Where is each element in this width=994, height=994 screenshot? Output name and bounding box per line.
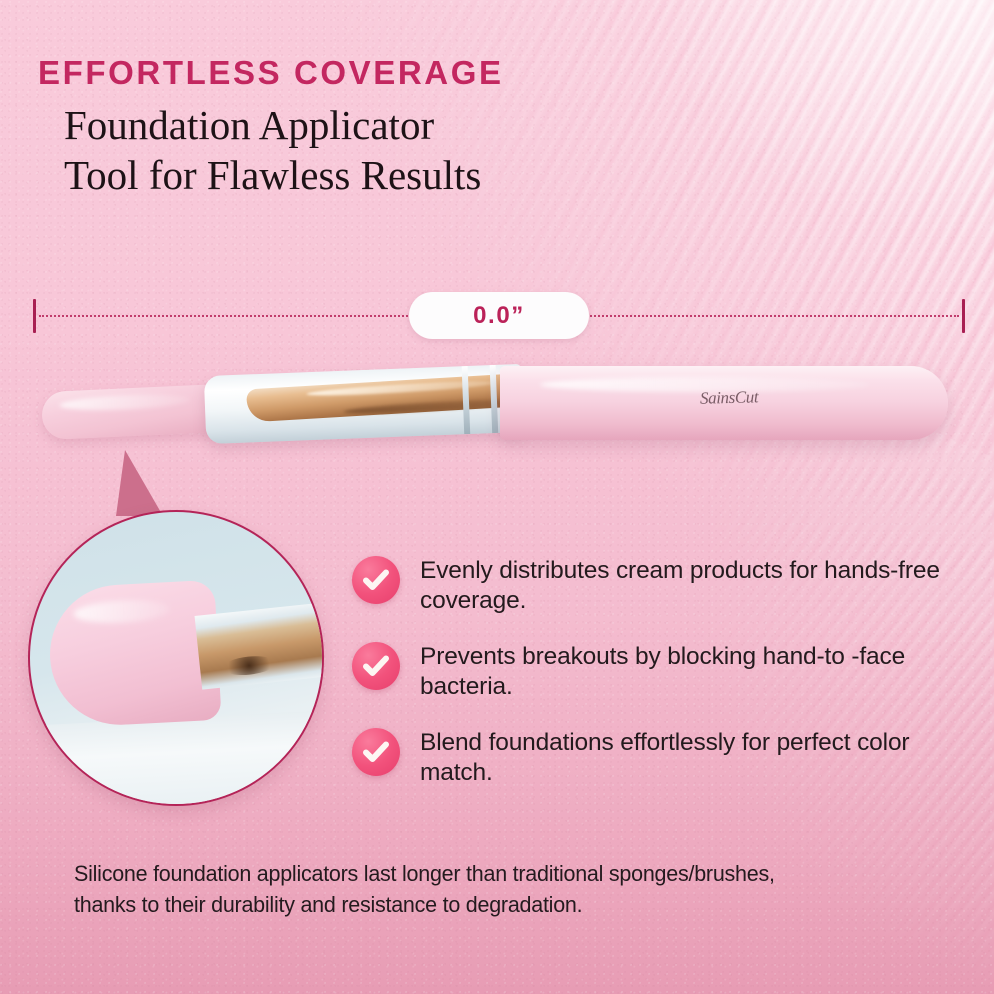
silicone-tip: [41, 384, 225, 440]
callout-surface: [28, 710, 324, 806]
metal-ferrule: [204, 364, 524, 444]
dimension-end-cap-left-icon: [33, 299, 36, 333]
list-item: Evenly distributes cream products for ha…: [352, 556, 952, 616]
list-item-label: Prevents breakouts by blocking hand-to -…: [420, 642, 940, 702]
callout-silicone-tip: [46, 580, 221, 729]
list-item-label: Blend foundations effortlessly for perfe…: [420, 728, 940, 788]
check-circle-icon: [352, 728, 400, 776]
tip-highlight: [59, 392, 190, 412]
callout-metal-shadow: [221, 654, 277, 678]
brand-logo: SainsCut: [700, 387, 759, 408]
eyebrow-heading: EFFORTLESS COVERAGE: [38, 54, 504, 92]
check-circle-icon: [352, 556, 400, 604]
dimension-end-cap-right-icon: [962, 299, 965, 333]
page-title: Foundation Applicator Tool for Flawless …: [64, 100, 481, 200]
list-item: Prevents breakouts by blocking hand-to -…: [352, 642, 952, 702]
rose-gold-accent: [246, 372, 524, 422]
benefits-list: Evenly distributes cream products for ha…: [352, 556, 952, 814]
product-infographic: EFFORTLESS COVERAGE Foundation Applicato…: [0, 0, 994, 994]
list-item-label: Evenly distributes cream products for ha…: [420, 556, 940, 616]
product-illustration: SainsCut: [0, 330, 994, 470]
callout-pointer-icon: [116, 450, 163, 516]
callout-tip-highlight: [73, 598, 170, 625]
magnified-tip-callout: [28, 498, 328, 790]
list-item: Blend foundations effortlessly for perfe…: [352, 728, 952, 788]
callout-circle: [28, 510, 324, 806]
pink-handle: SainsCut: [500, 366, 948, 440]
callout-metal-ferrule: [195, 600, 324, 689]
check-circle-icon: [352, 642, 400, 690]
footer-caption: Silicone foundation applicators last lon…: [74, 858, 891, 920]
